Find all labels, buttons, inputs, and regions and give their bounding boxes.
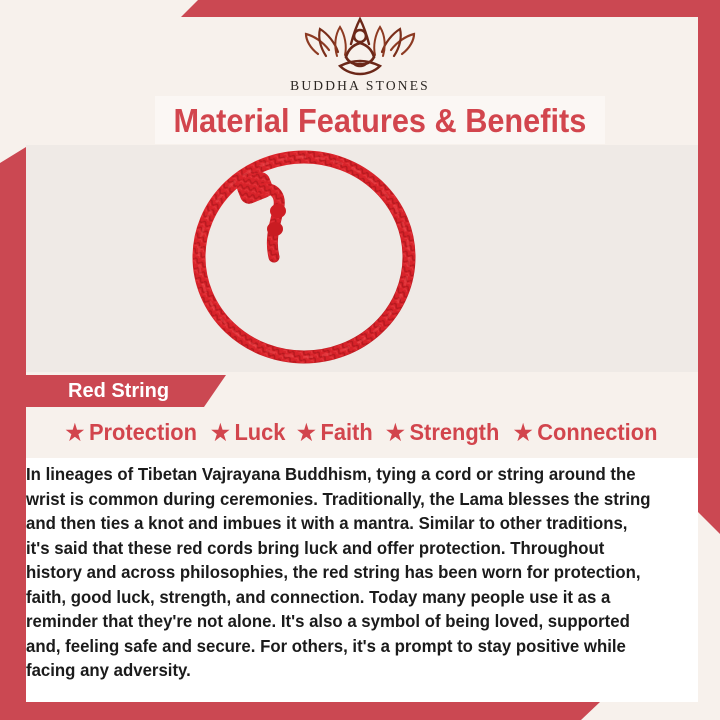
lotus-meditation-icon xyxy=(296,14,424,76)
benefit-label: Luck xyxy=(234,419,285,446)
material-banner: Red String xyxy=(26,375,226,407)
benefit-label: Protection xyxy=(89,419,197,446)
description-panel: In lineages of Tibetan Vajrayana Buddhis… xyxy=(26,458,698,702)
description-text: In lineages of Tibetan Vajrayana Buddhis… xyxy=(26,462,653,683)
star-icon: ★ xyxy=(386,422,405,444)
star-icon: ★ xyxy=(66,422,85,444)
benefit-item-faith: ★ Faith xyxy=(297,419,373,446)
page-title-band: Material Features & Benefits xyxy=(155,96,605,144)
frame-bar-bottom xyxy=(0,702,600,720)
page-title: Material Features & Benefits xyxy=(174,104,587,137)
product-image xyxy=(26,145,698,372)
benefits-list: ★ Protection ★ Luck ★ Faith ★ Strength ★… xyxy=(26,407,698,458)
benefit-item-luck: ★ Luck xyxy=(211,419,286,446)
red-string-bracelet-illustration xyxy=(26,145,698,372)
benefit-item-protection: ★ Protection xyxy=(66,419,198,446)
star-icon: ★ xyxy=(211,422,230,444)
star-icon: ★ xyxy=(514,422,533,444)
benefit-item-connection: ★ Connection xyxy=(514,419,658,446)
benefit-label: Strength xyxy=(409,419,499,446)
frame-bar-right xyxy=(698,17,720,534)
benefit-label: Connection xyxy=(538,419,658,446)
brand-logo: BUDDHA STONES xyxy=(0,14,720,94)
infographic-poster: BUDDHA STONES Material Features & Benefi… xyxy=(0,0,720,720)
frame-bar-left xyxy=(0,147,26,703)
brand-name: BUDDHA STONES xyxy=(0,78,720,94)
benefit-item-strength: ★ Strength xyxy=(386,419,499,446)
benefit-label: Faith xyxy=(321,419,373,446)
material-name: Red String xyxy=(26,380,169,403)
star-icon: ★ xyxy=(297,422,316,444)
